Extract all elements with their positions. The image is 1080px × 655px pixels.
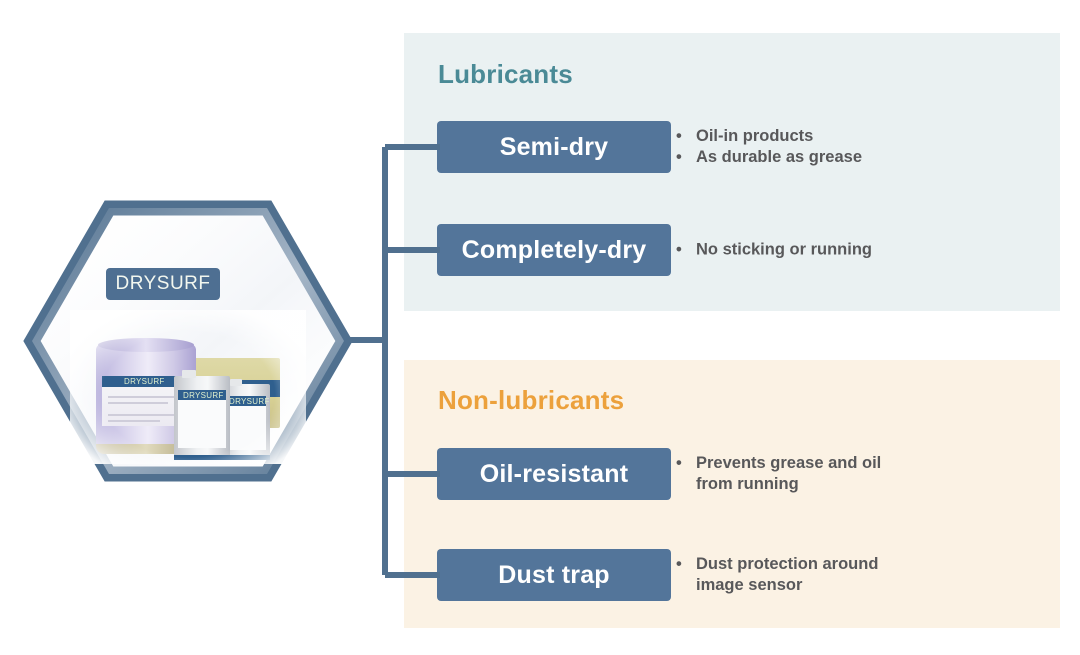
category-heading-non-lubricants: Non-lubricants: [438, 385, 624, 416]
category-panel-lubricants: Lubricants Semi-dry •Oil-in products •As…: [404, 33, 1060, 311]
product-chip-semi-dry[interactable]: Semi-dry: [437, 121, 671, 173]
bullet-marker: •: [686, 147, 696, 168]
diagram-canvas: Lubricants Semi-dry •Oil-in products •As…: [0, 0, 1080, 655]
product-row-completely-dry: Completely-dry •No sticking or running: [404, 224, 1060, 276]
bullet-marker: •: [686, 126, 696, 147]
bullet-marker: •: [686, 240, 696, 261]
center-node-content: DRYSURF DRYSURF DRYSURF: [78, 212, 298, 470]
bullet-text: No sticking or running: [696, 241, 872, 259]
drum-label-text: DRYSURF: [124, 377, 165, 386]
product-chip-oil-resistant[interactable]: Oil-resistant: [437, 448, 671, 500]
bullet-marker: •: [686, 554, 696, 575]
product-photo: DRYSURF DRYSURF: [84, 328, 296, 460]
product-row-semi-dry: Semi-dry •Oil-in products •As durable as…: [404, 121, 1060, 173]
drum-rim-top: [98, 338, 194, 352]
center-node-hexagon[interactable]: DRYSURF DRYSURF DRYSURF: [22, 196, 354, 486]
product-desc-completely-dry: •No sticking or running: [686, 240, 1026, 261]
product-chip-completely-dry[interactable]: Completely-dry: [437, 224, 671, 276]
product-row-oil-resistant: Oil-resistant •Prevents grease and oil f…: [404, 448, 1060, 500]
drysurf-logo-badge: DRYSURF: [106, 268, 220, 300]
bullet-marker: •: [686, 453, 696, 474]
product-desc-oil-resistant: •Prevents grease and oil from running: [686, 453, 1026, 495]
product-can-large: DRYSURF: [174, 376, 230, 460]
bullet-text: As durable as grease: [696, 148, 862, 166]
category-heading-lubricants: Lubricants: [438, 59, 573, 90]
bullet-text: Oil-in products: [696, 127, 813, 145]
product-chip-dust-trap[interactable]: Dust trap: [437, 549, 671, 601]
category-panel-non-lubricants: Non-lubricants Oil-resistant •Prevents g…: [404, 360, 1060, 628]
bullet-text: Dust protection around image sensor: [696, 555, 878, 594]
product-desc-semi-dry: •Oil-in products •As durable as grease: [686, 126, 1026, 168]
product-desc-dust-trap: •Dust protection around image sensor: [686, 554, 1026, 596]
bullet-text: Prevents grease and oil from running: [696, 454, 881, 493]
product-row-dust-trap: Dust trap •Dust protection around image …: [404, 549, 1060, 601]
